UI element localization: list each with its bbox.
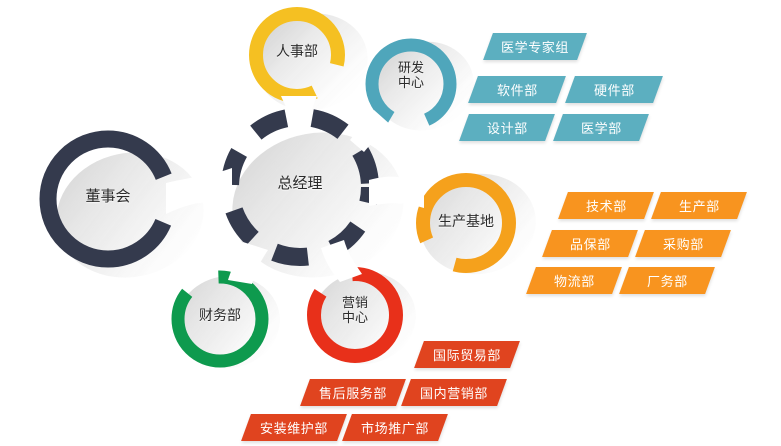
tag-label: 市场推广部 xyxy=(361,418,429,437)
tag-label: 安装维护部 xyxy=(260,418,328,437)
tag-production-factory-affairs[interactable]: 厂务部 xyxy=(619,267,715,294)
tag-marketing-international-trade[interactable]: 国际贸易部 xyxy=(414,341,520,368)
tag-production-quality-assurance[interactable]: 品保部 xyxy=(542,230,638,257)
tag-label: 医学部 xyxy=(581,118,622,137)
tag-label: 物流部 xyxy=(554,271,595,290)
tag-label: 国际贸易部 xyxy=(433,345,501,364)
tag-rd-design[interactable]: 设计部 xyxy=(459,114,555,141)
tag-production-manufacturing[interactable]: 生产部 xyxy=(651,192,747,219)
tag-production-purchasing[interactable]: 采购部 xyxy=(635,230,731,257)
shadow-group xyxy=(45,2,544,376)
tag-label: 设计部 xyxy=(487,118,528,137)
tag-production-technology[interactable]: 技术部 xyxy=(558,192,654,219)
org-chart-diagram: 董事会 总经理 人事部 研发 中心 生产基地 财务部 营销 中心 医学专家组 软… xyxy=(0,0,781,446)
tag-label: 技术部 xyxy=(586,196,627,215)
tag-rd-software[interactable]: 软件部 xyxy=(468,76,566,103)
tag-label: 硬件部 xyxy=(594,80,635,99)
tag-label: 国内营销部 xyxy=(420,383,488,402)
tag-marketing-market-promotion[interactable]: 市场推广部 xyxy=(342,414,448,441)
tag-label: 厂务部 xyxy=(647,271,688,290)
tag-rd-hardware[interactable]: 硬件部 xyxy=(565,76,663,103)
tag-label: 售后服务部 xyxy=(319,383,387,402)
tag-label: 品保部 xyxy=(570,234,611,253)
tag-production-logistics[interactable]: 物流部 xyxy=(526,267,622,294)
tag-label: 医学专家组 xyxy=(501,37,569,56)
tag-marketing-domestic-marketing[interactable]: 国内营销部 xyxy=(401,379,507,406)
tag-marketing-installation-maintenance[interactable]: 安装维护部 xyxy=(241,414,347,441)
tag-label: 软件部 xyxy=(497,80,538,99)
connector-gm-finance xyxy=(228,242,268,284)
tag-rd-medical-expert-group[interactable]: 医学专家组 xyxy=(483,33,587,60)
tag-label: 采购部 xyxy=(663,234,704,253)
tag-rd-medical[interactable]: 医学部 xyxy=(553,114,649,141)
tag-marketing-after-sales-service[interactable]: 售后服务部 xyxy=(300,379,406,406)
tag-label: 生产部 xyxy=(679,196,720,215)
